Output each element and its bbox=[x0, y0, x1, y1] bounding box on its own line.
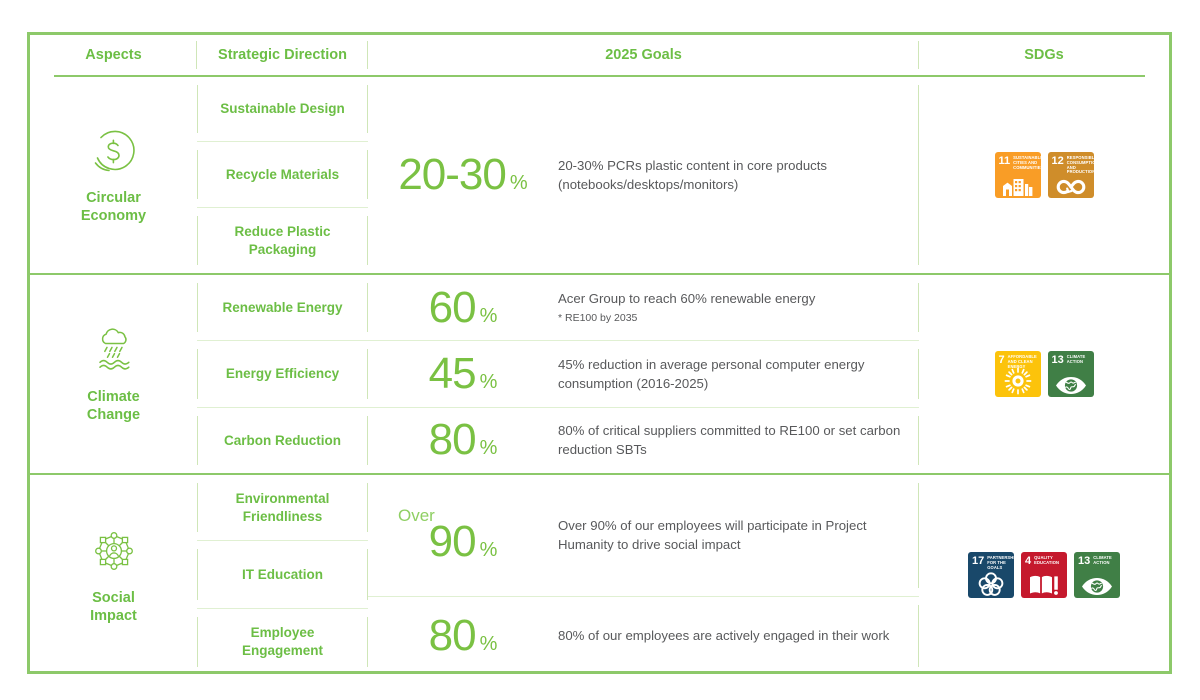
goal-description: 80% of our employees are actively engage… bbox=[558, 626, 905, 645]
sdg-title: Climate Action bbox=[1067, 355, 1091, 365]
dollar-circle-icon bbox=[87, 125, 141, 179]
aspect-label: SocialImpact bbox=[90, 589, 137, 625]
header-strategic-direction-label: Strategic Direction bbox=[218, 47, 347, 63]
goal-unit: % bbox=[480, 437, 498, 459]
goal-description: 80% of critical suppliers committed to R… bbox=[558, 421, 919, 459]
sdg-badge-7[interactable]: 7 Affordable and Clean Energy bbox=[995, 351, 1041, 397]
sdg-title: Sustainable Cities and Communities bbox=[1013, 156, 1040, 170]
goal-item: 45% 45% reduction in average personal co… bbox=[368, 340, 919, 406]
goal-description: Acer Group to reach 60% renewable energy… bbox=[558, 289, 831, 325]
sdg-heading: 11 Sustainable Cities and Communities bbox=[995, 152, 1041, 170]
direction-label: Renewable Energy bbox=[222, 299, 342, 317]
goal-value: 45 bbox=[429, 349, 476, 398]
strategic-direction-cell: Sustainable DesignRecycle MaterialsReduc… bbox=[197, 77, 368, 273]
cell-divider-left bbox=[197, 85, 198, 133]
goal-description: 20-30% PCRs plastic content in core prod… bbox=[558, 156, 919, 194]
sdg-badge-13[interactable]: 13 Climate Action bbox=[1074, 552, 1120, 598]
goals-cell: 60% Acer Group to reach 60% renewable en… bbox=[368, 275, 919, 473]
header-sdgs: SDGs bbox=[919, 35, 1169, 75]
cell-divider-right bbox=[918, 605, 919, 667]
header-aspects-label: Aspects bbox=[85, 47, 141, 63]
people-network-icon bbox=[87, 525, 141, 579]
aspect-cell-circular-economy: CircularEconomy bbox=[30, 77, 197, 273]
cell-divider-left bbox=[197, 549, 198, 599]
goal-unit: % bbox=[480, 539, 498, 561]
goal-value: 80 bbox=[429, 611, 476, 660]
sdg-badge-12[interactable]: 12 Responsible Consumption and Productio… bbox=[1048, 152, 1094, 198]
sdg-number: 17 bbox=[972, 556, 984, 567]
direction-label: IT Education bbox=[242, 566, 323, 584]
eye-globe-icon bbox=[1074, 577, 1120, 596]
goal-unit: % bbox=[480, 371, 498, 393]
aspect-band: SocialImpactEnvironmentalFriendlinessIT … bbox=[30, 473, 1169, 675]
goal-value: 90 bbox=[429, 517, 476, 566]
direction-label: Carbon Reduction bbox=[224, 432, 341, 450]
goal-metric: 80% bbox=[368, 614, 558, 658]
sdg-number: 12 bbox=[1052, 156, 1064, 167]
strategic-direction-cell: EnvironmentalFriendlinessIT EducationEmp… bbox=[197, 475, 368, 675]
sdg-number: 11 bbox=[999, 156, 1011, 167]
sdg-heading: 13 Climate Action bbox=[1048, 351, 1094, 366]
goals-table: Aspects Strategic Direction 2025 Goals S… bbox=[27, 32, 1172, 674]
header-sdgs-label: SDGs bbox=[1024, 47, 1064, 63]
goal-metric: 80% bbox=[368, 418, 558, 462]
direction-item[interactable]: Sustainable Design bbox=[197, 77, 368, 141]
goal-item: 80% 80% of critical suppliers committed … bbox=[368, 407, 919, 473]
cell-divider-left bbox=[197, 483, 198, 532]
cell-divider-left bbox=[197, 617, 198, 667]
goal-item: 60% Acer Group to reach 60% renewable en… bbox=[368, 275, 919, 340]
table-body: CircularEconomySustainable DesignRecycle… bbox=[30, 77, 1169, 675]
aspect-label: CircularEconomy bbox=[81, 189, 146, 225]
sdg-number: 7 bbox=[999, 355, 1005, 366]
sdg-number: 13 bbox=[1078, 556, 1090, 567]
goal-metric: 60% bbox=[368, 286, 558, 330]
goal-unit: % bbox=[480, 305, 498, 327]
cell-divider-left bbox=[197, 216, 198, 265]
sdg-title: Quality Education bbox=[1034, 556, 1064, 566]
direction-item[interactable]: Carbon Reduction bbox=[197, 407, 368, 473]
header-2025-goals-label: 2025 Goals bbox=[605, 47, 682, 63]
direction-item[interactable]: Renewable Energy bbox=[197, 275, 368, 340]
direction-label: EmployeeEngagement bbox=[242, 624, 323, 659]
header-strategic-direction: Strategic Direction bbox=[197, 35, 368, 75]
sdg-heading: 4 Quality Education bbox=[1021, 552, 1067, 567]
eye-globe-icon bbox=[1048, 376, 1094, 395]
sun-icon bbox=[995, 367, 1041, 395]
rings-icon bbox=[968, 572, 1014, 596]
strategic-direction-cell: Renewable EnergyEnergy EfficiencyCarbon … bbox=[197, 275, 368, 473]
aspect-cell-climate-change: ClimateChange bbox=[30, 275, 197, 473]
sdg-badge-13[interactable]: 13 Climate Action bbox=[1048, 351, 1094, 397]
cell-divider-right bbox=[918, 349, 919, 398]
sdg-heading: 13 Climate Action bbox=[1074, 552, 1120, 567]
direction-item[interactable]: Recycle Materials bbox=[197, 141, 368, 207]
goal-description: Over 90% of our employees will participa… bbox=[558, 516, 919, 554]
goal-item: 80% 80% of our employees are actively en… bbox=[368, 596, 919, 675]
sdg-title: Responsible Consumption and Production bbox=[1067, 156, 1094, 175]
sdg-cell: 17 Partnerships for the Goals 4 Quality … bbox=[919, 475, 1169, 675]
aspect-band: CircularEconomySustainable DesignRecycle… bbox=[30, 77, 1169, 273]
sdg-cell: 7 Affordable and Clean Energy 13 Climate… bbox=[919, 275, 1169, 473]
direction-item[interactable]: Energy Efficiency bbox=[197, 340, 368, 406]
aspect-band: ClimateChangeRenewable EnergyEnergy Effi… bbox=[30, 273, 1169, 473]
cell-divider-right bbox=[918, 416, 919, 465]
goal-item: 20-30% 20-30% PCRs plastic content in co… bbox=[368, 77, 919, 273]
goals-cell: Over 90% Over 90% of our employees will … bbox=[368, 475, 919, 675]
sdg-title: Climate Action bbox=[1093, 556, 1117, 566]
header-aspects: Aspects bbox=[30, 35, 197, 75]
sdg-cell: 11 Sustainable Cities and Communities 12… bbox=[919, 77, 1169, 273]
direction-label: Sustainable Design bbox=[220, 100, 345, 118]
goal-metric: Over 90% bbox=[368, 506, 558, 564]
table-header-row: Aspects Strategic Direction 2025 Goals S… bbox=[30, 35, 1169, 75]
direction-label: Reduce PlasticPackaging bbox=[234, 223, 330, 258]
cell-divider-left bbox=[197, 283, 198, 332]
sdg-badge-4[interactable]: 4 Quality Education bbox=[1021, 552, 1067, 598]
direction-label: Recycle Materials bbox=[226, 166, 339, 184]
sdg-title: Partnerships for the Goals bbox=[987, 556, 1014, 570]
sdg-number: 13 bbox=[1052, 355, 1064, 366]
goal-note: * RE100 by 2035 bbox=[558, 311, 815, 326]
cloud-rain-waves-icon bbox=[87, 324, 141, 378]
sdg-number: 4 bbox=[1025, 556, 1031, 567]
header-2025-goals: 2025 Goals bbox=[368, 35, 919, 75]
goals-cell: 20-30% 20-30% PCRs plastic content in co… bbox=[368, 77, 919, 273]
goal-unit: % bbox=[510, 172, 528, 194]
goal-value: 20-30 bbox=[398, 150, 506, 199]
direction-label: EnvironmentalFriendliness bbox=[236, 490, 330, 525]
direction-label: Energy Efficiency bbox=[226, 365, 339, 383]
goal-value: 80 bbox=[429, 415, 476, 464]
sdg-heading: 17 Partnerships for the Goals bbox=[968, 552, 1014, 570]
cell-divider-left bbox=[197, 416, 198, 465]
sdg-badge-17[interactable]: 17 Partnerships for the Goals bbox=[968, 552, 1014, 598]
aspect-cell-social-impact: SocialImpact bbox=[30, 475, 197, 675]
infinity-icon bbox=[1048, 178, 1094, 196]
direction-item[interactable]: EmployeeEngagement bbox=[197, 608, 368, 675]
sdg-heading: 12 Responsible Consumption and Productio… bbox=[1048, 152, 1094, 175]
sdg-badge-11[interactable]: 11 Sustainable Cities and Communities bbox=[995, 152, 1041, 198]
direction-item[interactable]: Reduce PlasticPackaging bbox=[197, 207, 368, 273]
goal-value: 60 bbox=[429, 283, 476, 332]
direction-item[interactable]: EnvironmentalFriendliness bbox=[197, 475, 368, 540]
book-icon bbox=[1021, 574, 1067, 596]
cell-divider-left bbox=[197, 150, 198, 199]
cell-divider-right bbox=[918, 483, 919, 588]
cell-divider-left bbox=[197, 349, 198, 398]
cell-divider-right bbox=[918, 283, 919, 332]
goal-item: Over 90% Over 90% of our employees will … bbox=[368, 475, 919, 596]
goal-unit: % bbox=[480, 633, 498, 655]
aspect-label: ClimateChange bbox=[87, 388, 140, 424]
goal-metric: 45% bbox=[368, 352, 558, 396]
goal-description: 45% reduction in average personal comput… bbox=[558, 355, 919, 393]
goal-metric: 20-30% bbox=[368, 153, 558, 197]
cityscape-icon bbox=[995, 177, 1041, 196]
direction-item[interactable]: IT Education bbox=[197, 540, 368, 607]
cell-divider-right bbox=[918, 85, 919, 265]
